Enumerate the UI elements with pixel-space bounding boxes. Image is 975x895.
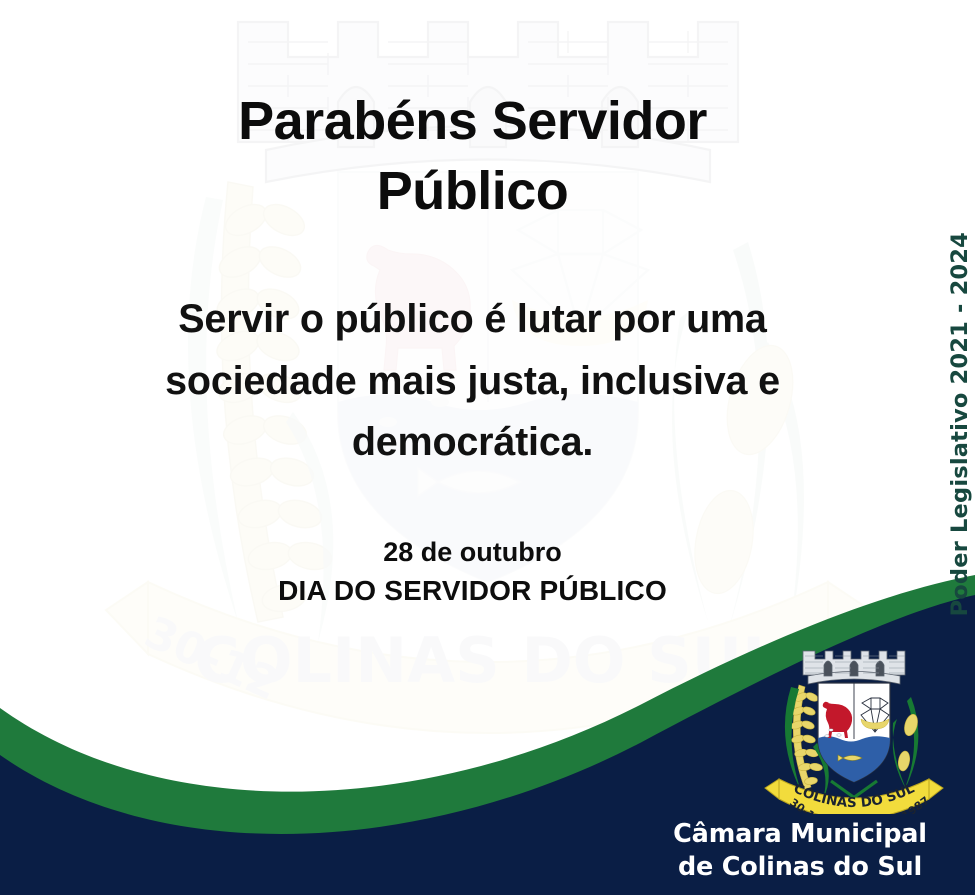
organization-line-2: de Colinas do Sul [640,851,960,884]
shield-icon [818,683,890,782]
poster-occasion: DIA DO SERVIDOR PÚBLICO [0,571,945,611]
coat-of-arms-emblem: COLINAS DO SUL 30-12 1987 [761,639,947,814]
poster-message: Servir o público é lutar por uma socieda… [0,289,945,473]
crown-icon [803,651,905,684]
organization-name: Câmara Municipal de Colinas do Sul [640,818,960,883]
organization-line-1: Câmara Municipal [640,818,960,851]
watermark-banner-date: 30-12 [137,607,286,711]
poster-text-block: Parabéns Servidor Público Servir o públi… [0,0,945,611]
page-title: Parabéns Servidor Público [0,86,945,226]
poster-canvas: COLINAS DO SUL 30-12 Parabéns Servidor P… [0,0,975,895]
corn-leaf-icon [893,697,919,793]
ribbon-icon: COLINAS DO SUL 30-12 1987 [765,779,943,814]
poster-date: 28 de outubro [0,533,945,571]
legislative-term-label: Poder Legislativo 2021 - 2024 [947,232,973,616]
watermark-banner-text: COLINAS DO SUL [194,624,781,697]
